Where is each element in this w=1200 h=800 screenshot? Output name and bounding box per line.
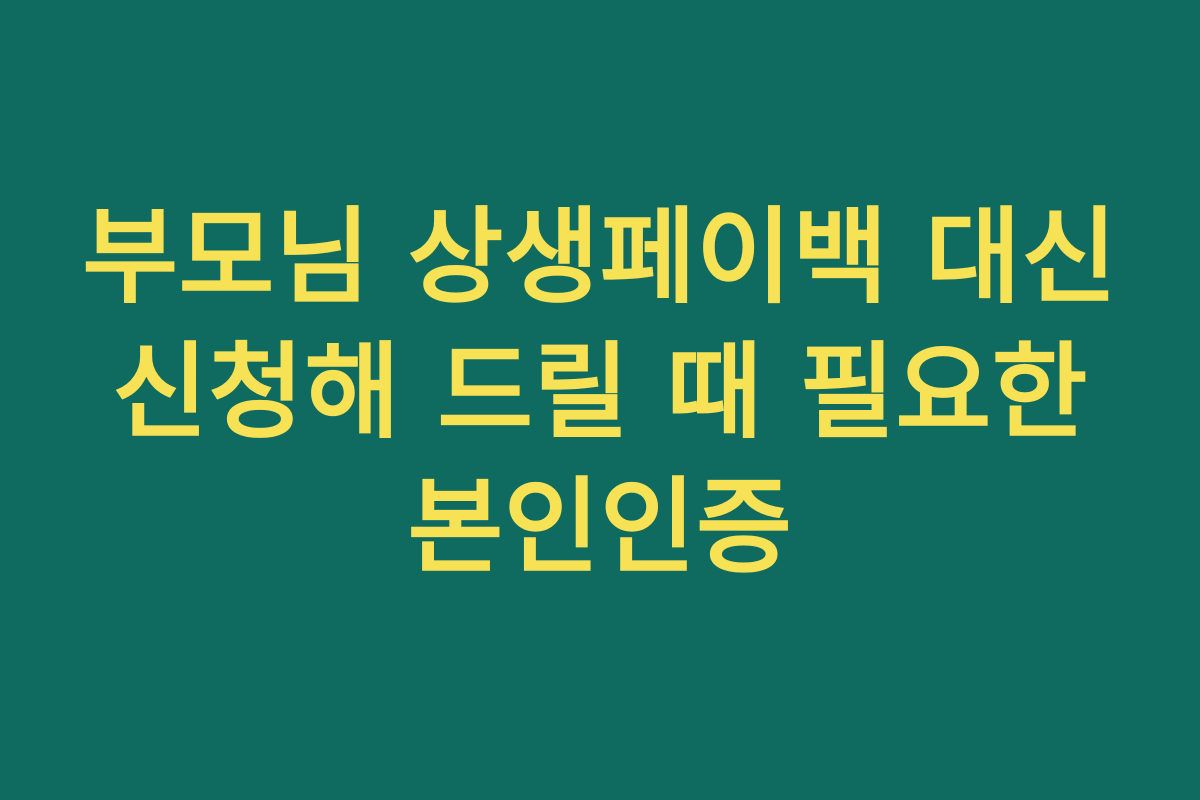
page-title: 부모님 상생페이백 대신 신청해 드릴 때 필요한 본인인증 <box>50 190 1150 595</box>
headline-line-2: 신청해 드릴 때 필요한 <box>50 325 1150 460</box>
headline-line-1: 부모님 상생페이백 대신 <box>50 190 1150 325</box>
text-card: 부모님 상생페이백 대신 신청해 드릴 때 필요한 본인인증 <box>0 0 1200 800</box>
headline-container: 부모님 상생페이백 대신 신청해 드릴 때 필요한 본인인증 <box>0 190 1200 595</box>
headline-line-3: 본인인증 <box>50 460 1150 595</box>
